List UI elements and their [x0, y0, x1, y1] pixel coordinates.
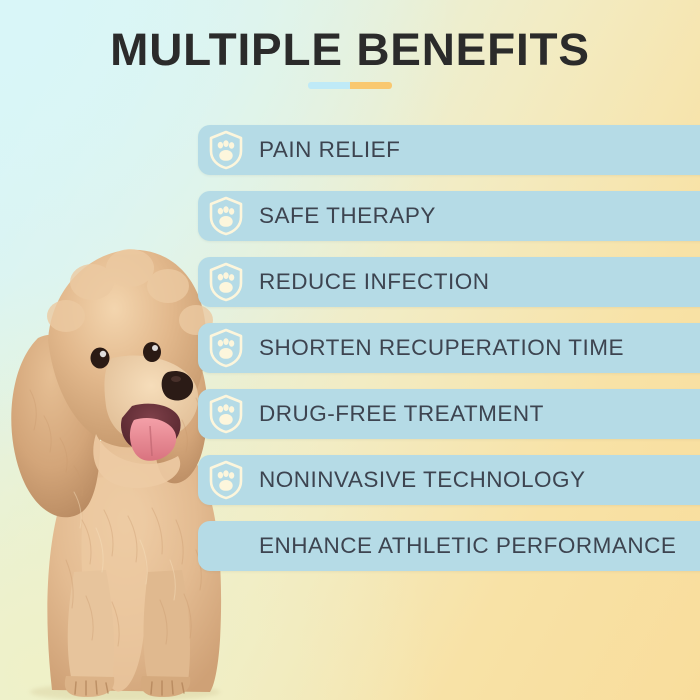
- page-title: MULTIPLE BENEFITS: [0, 26, 700, 73]
- accent-segment-orange: [350, 82, 392, 89]
- benefit-item-noninvasive-technology[interactable]: NONINVASIVE TECHNOLOGY: [198, 455, 700, 505]
- benefit-label: SAFE THERAPY: [259, 203, 436, 229]
- shield-paw-icon: [207, 393, 245, 435]
- benefit-item-enhance-athletic-performance[interactable]: ENHANCE ATHLETIC PERFORMANCE: [198, 521, 700, 571]
- benefits-list: PAIN RELIEF SAFE THERAPY REDUCE INFECTIO…: [198, 125, 700, 587]
- benefit-label: SHORTEN RECUPERATION TIME: [259, 335, 624, 361]
- benefit-label: DRUG-FREE TREATMENT: [259, 401, 544, 427]
- shield-paw-icon: [207, 327, 245, 369]
- header: MULTIPLE BENEFITS: [0, 26, 700, 89]
- benefit-item-reduce-infection[interactable]: REDUCE INFECTION: [198, 257, 700, 307]
- accent-segment-blue: [308, 82, 350, 89]
- benefit-item-pain-relief[interactable]: PAIN RELIEF: [198, 125, 700, 175]
- shield-paw-icon: [207, 459, 245, 501]
- benefit-item-drug-free-treatment[interactable]: DRUG-FREE TREATMENT: [198, 389, 700, 439]
- benefit-label: PAIN RELIEF: [259, 137, 400, 163]
- benefit-label: NONINVASIVE TECHNOLOGY: [259, 467, 585, 493]
- benefit-label: ENHANCE ATHLETIC PERFORMANCE: [259, 533, 676, 559]
- title-accent-underline: [0, 82, 700, 89]
- benefit-label: REDUCE INFECTION: [259, 269, 490, 295]
- shield-paw-icon: [207, 261, 245, 303]
- shield-paw-icon: [207, 129, 245, 171]
- benefit-item-safe-therapy[interactable]: SAFE THERAPY: [198, 191, 700, 241]
- shield-paw-icon: [207, 195, 245, 237]
- benefit-item-shorten-recuperation-time[interactable]: SHORTEN RECUPERATION TIME: [198, 323, 700, 373]
- promo-banner: MULTIPLE BENEFITS PAIN RELIEF: [0, 0, 700, 700]
